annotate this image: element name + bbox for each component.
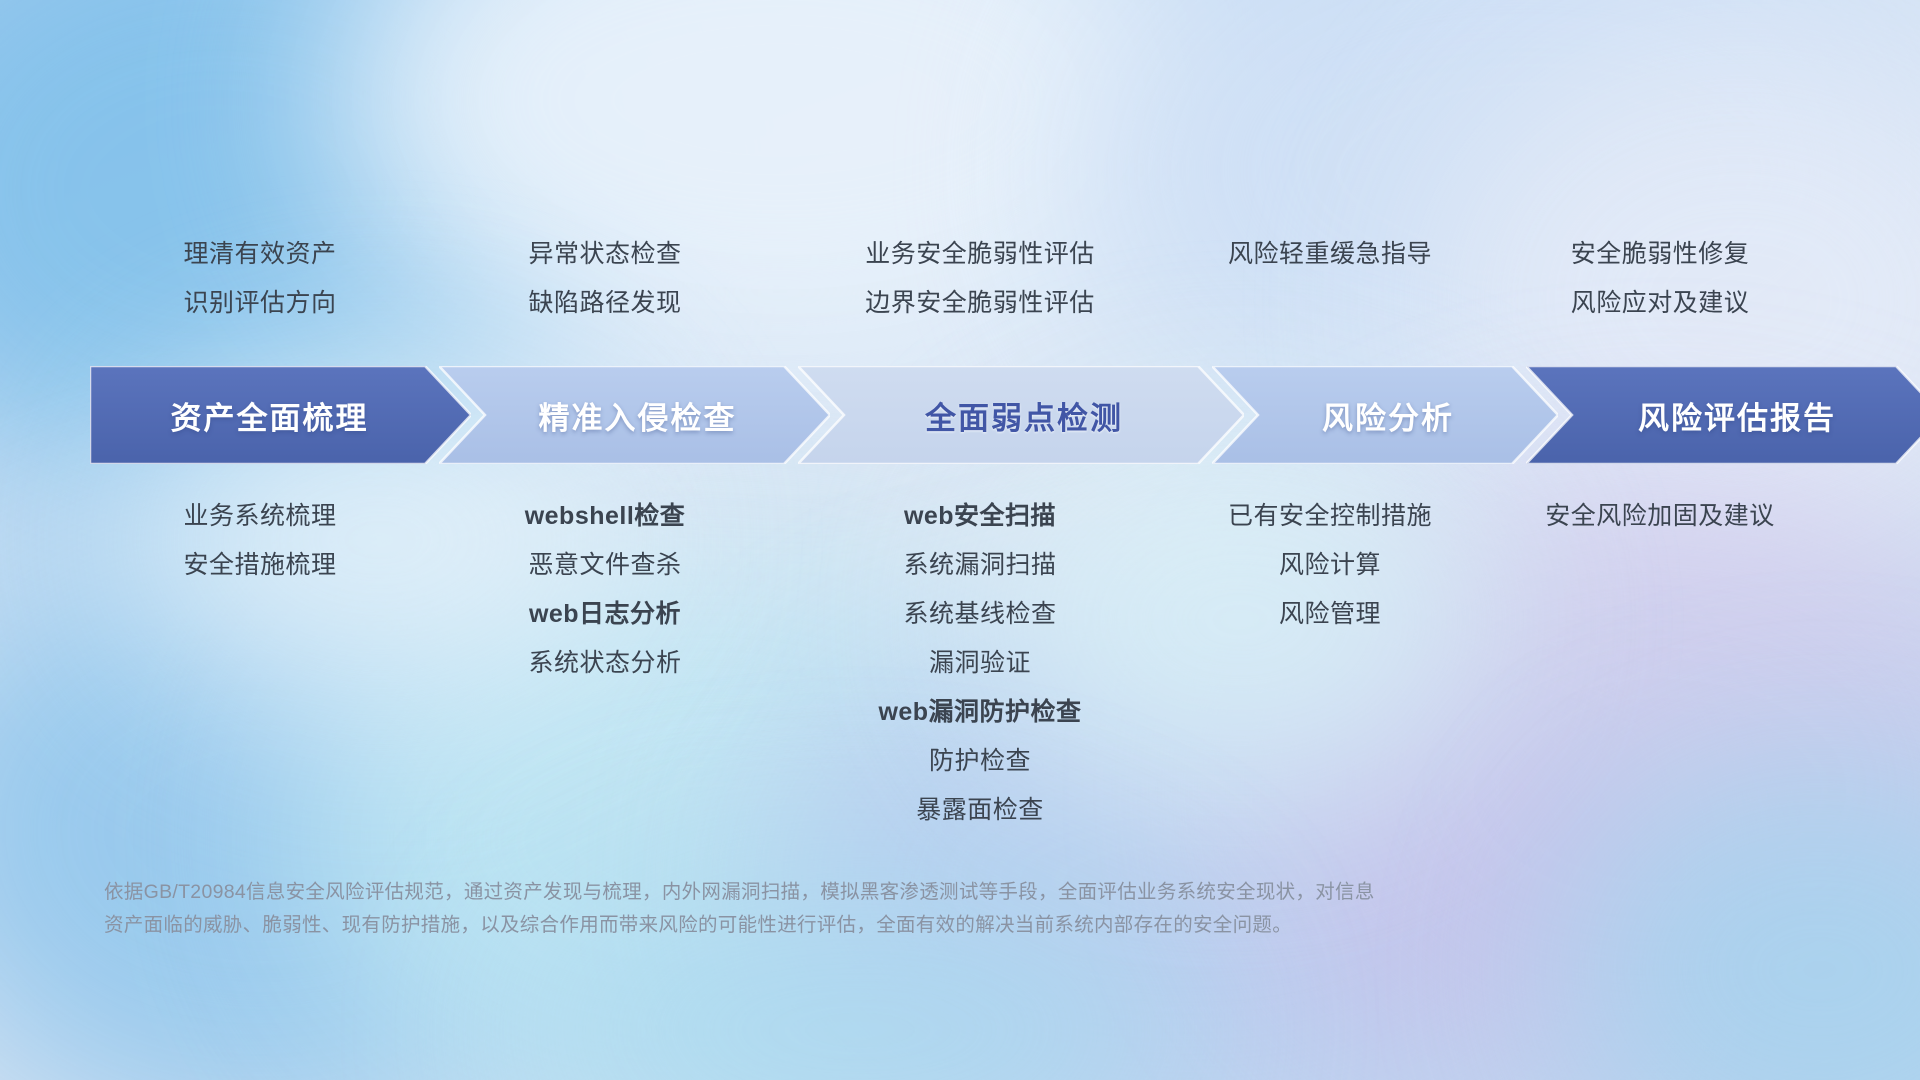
footer-note: 依据GB/T20984信息安全风险评估规范，通过资产发现与梳理，内外网漏洞扫描，… <box>104 876 1704 942</box>
detail-item: web安全扫描 <box>780 492 1180 541</box>
stage-chevron-4[interactable]: 风险分析 <box>1212 366 1558 464</box>
detail-item: 安全风险加固及建议 <box>1480 492 1840 541</box>
detail-item: web日志分析 <box>430 590 780 639</box>
detail-item: 漏洞验证 <box>780 639 1180 688</box>
stage-top-label: 缺陷路径发现 <box>430 279 780 327</box>
footer-line-1: 依据GB/T20984信息安全风险评估规范，通过资产发现与梳理，内外网漏洞扫描，… <box>104 876 1704 909</box>
detail-item: 暴露面检查 <box>780 786 1180 835</box>
detail-item: 恶意文件查杀 <box>430 541 780 590</box>
stage-detail-column: web安全扫描系统漏洞扫描系统基线检查漏洞验证web漏洞防护检查防护检查暴露面检… <box>780 492 1180 835</box>
stage-top-label: 风险应对及建议 <box>1480 279 1840 327</box>
stage-detail-column: 安全风险加固及建议 <box>1480 492 1840 541</box>
stage-chevron-1[interactable]: 资产全面梳理 <box>90 366 471 464</box>
detail-item: 风险计算 <box>1180 541 1480 590</box>
stage-top-label: 理清有效资产 <box>90 230 430 278</box>
detail-item: 系统状态分析 <box>430 639 780 688</box>
detail-item: 防护检查 <box>780 737 1180 786</box>
stage-title: 风险分析 <box>1322 393 1454 438</box>
detail-item: 风险管理 <box>1180 590 1480 639</box>
detail-item: 业务系统梳理 <box>90 492 430 541</box>
stage-top-label: 异常状态检查 <box>430 230 780 278</box>
stage-chevron-3[interactable]: 全面弱点检测 <box>798 366 1244 464</box>
stage-detail-column: 业务系统梳理安全措施梳理 <box>90 492 430 590</box>
stage-top-label: 安全脆弱性修复 <box>1480 230 1840 278</box>
stage-title: 风险评估报告 <box>1638 393 1836 438</box>
stage-title: 资产全面梳理 <box>171 393 369 438</box>
stage-title: 精准入侵检查 <box>539 393 737 438</box>
detail-item: 已有安全控制措施 <box>1180 492 1480 541</box>
process-flow-diagram: 理清有效资产异常状态检查业务安全脆弱性评估风险轻重缓急指导安全脆弱性修复 识别评… <box>0 0 1920 1080</box>
stage-top-label: 风险轻重缓急指导 <box>1180 230 1480 278</box>
detail-item: 系统漏洞扫描 <box>780 541 1180 590</box>
stage-top-label: 业务安全脆弱性评估 <box>780 230 1180 278</box>
stage-title: 全面弱点检测 <box>925 393 1123 438</box>
detail-item: web漏洞防护检查 <box>780 688 1180 737</box>
stage-top-label: 识别评估方向 <box>90 279 430 327</box>
detail-item: 系统基线检查 <box>780 590 1180 639</box>
stage-chevron-band: 资产全面梳理精准入侵检查全面弱点检测风险分析风险评估报告 <box>90 366 1840 464</box>
stage-chevron-5[interactable]: 风险评估报告 <box>1526 366 1920 464</box>
detail-item: 安全措施梳理 <box>90 541 430 590</box>
stage-chevron-2[interactable]: 精准入侵检查 <box>439 366 830 464</box>
stage-detail-column: webshell检查恶意文件查杀web日志分析系统状态分析 <box>430 492 780 688</box>
footer-line-2: 资产面临的威胁、脆弱性、现有防护措施，以及综合作用而带来风险的可能性进行评估，全… <box>104 909 1704 942</box>
stage-top-label: 边界安全脆弱性评估 <box>780 279 1180 327</box>
stage-detail-column: 已有安全控制措施风险计算风险管理 <box>1180 492 1480 639</box>
detail-item: webshell检查 <box>430 492 780 541</box>
